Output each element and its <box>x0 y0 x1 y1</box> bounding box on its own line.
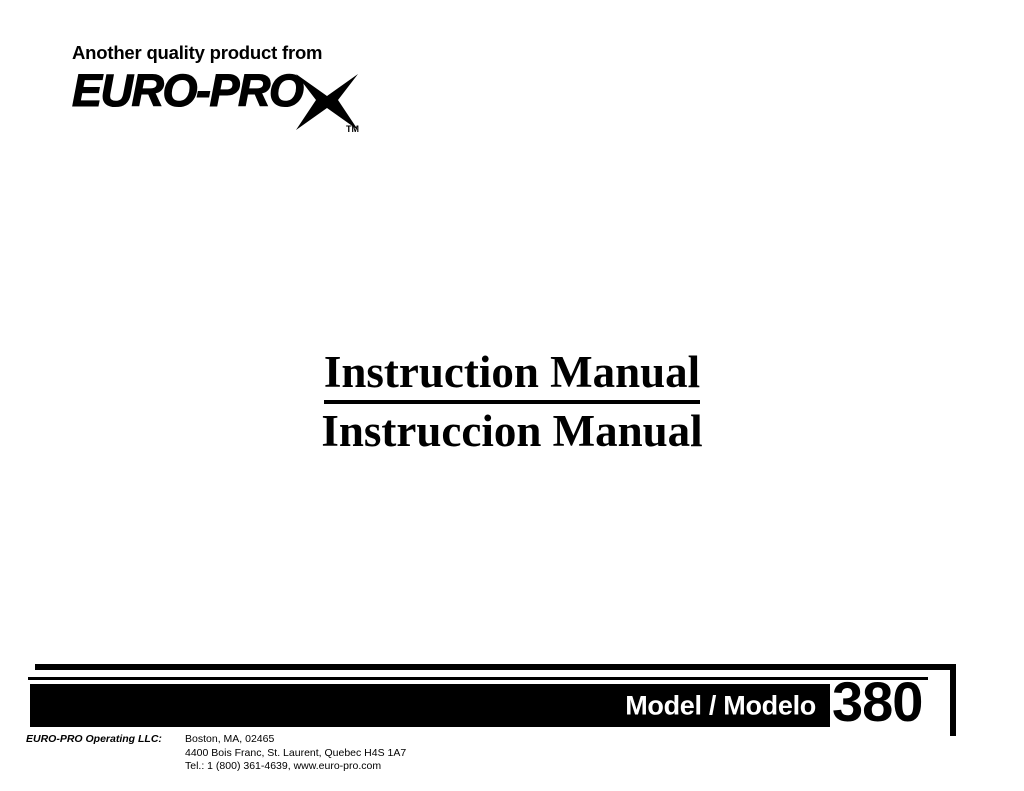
model-banner: Model / Modelo 380 <box>0 660 1024 740</box>
footer-address-line: 4400 Bois Franc, St. Laurent, Quebec H4S… <box>185 747 406 761</box>
footer-address-line: Boston, MA, 02465 <box>185 733 406 747</box>
brand-tagline: Another quality product from <box>72 44 392 63</box>
euro-pro-x-star-icon <box>294 72 360 132</box>
banner-edge-vertical <box>950 664 956 736</box>
document-title-english-wrap: Instruction Manual <box>324 345 700 404</box>
footer-address-line: Tel.: 1 (800) 361-4639, www.euro-pro.com <box>185 760 406 774</box>
document-title-block: Instruction Manual Instruccion Manual <box>0 345 1024 459</box>
brand-trademark-symbol: TM <box>346 125 359 134</box>
page-subtitle: Instruccion Manual <box>0 404 1024 459</box>
banner-rule-thin <box>28 677 928 680</box>
model-label: Model / Modelo <box>625 692 816 719</box>
footer-company-name: EURO-PRO Operating LLC: <box>26 733 162 747</box>
model-banner-bar: Model / Modelo <box>30 684 830 727</box>
brand-logo: Another quality product from EURO-PRO TM <box>72 44 392 129</box>
brand-wordmark-row: EURO-PRO TM <box>72 67 392 123</box>
footer-address-lines: Boston, MA, 02465 4400 Bois Franc, St. L… <box>185 733 406 774</box>
title-underline <box>324 400 700 404</box>
page-title: Instruction Manual <box>324 347 700 397</box>
model-number: 380 <box>832 674 922 730</box>
document-title-english-row: Instruction Manual <box>0 345 1024 404</box>
brand-wordmark: EURO-PRO <box>72 67 303 116</box>
banner-rule-thick <box>35 664 956 670</box>
